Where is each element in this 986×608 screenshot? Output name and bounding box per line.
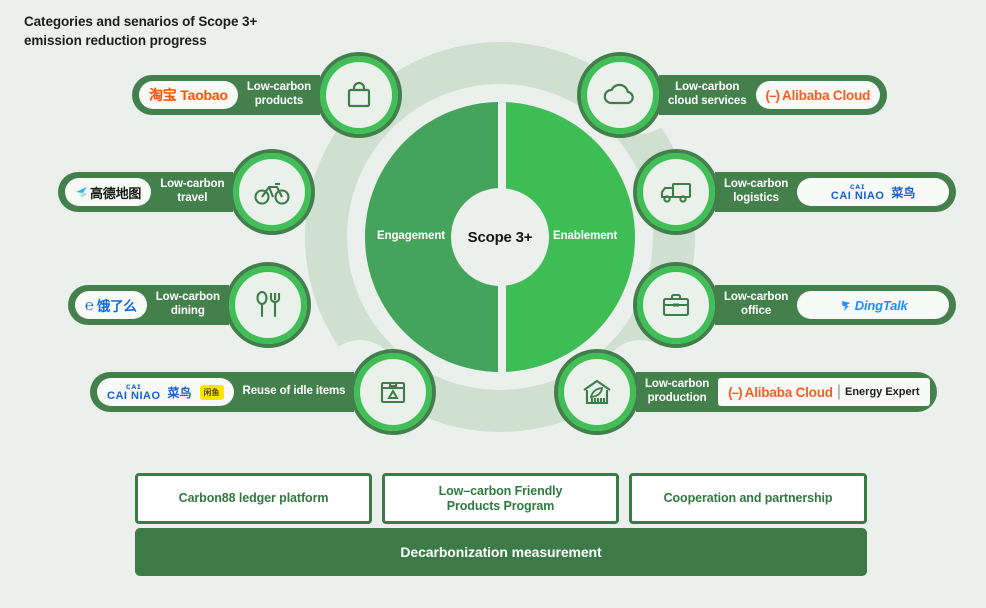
recycle-box-icon: [377, 376, 409, 408]
node-recycle-box[interactable]: [354, 353, 432, 431]
factory-leaf-icon: [580, 376, 614, 408]
node-inner-cloud: [587, 62, 653, 128]
brand-chip-alibaba-cloud[interactable]: (–) Alibaba Cloud: [756, 81, 881, 109]
rail-low-carbon-cloud: Low-carbon cloud services (–) Alibaba Cl…: [659, 75, 887, 115]
cutlery-icon: [253, 288, 283, 322]
dingtalk-mark-icon: [839, 297, 855, 313]
brand-chip-amap[interactable]: 高德地图: [65, 178, 151, 206]
node-factory[interactable]: [558, 353, 636, 431]
brand-chip-energy-expert[interactable]: (–) Alibaba Cloud | Energy Expert: [718, 378, 929, 406]
brand-chip-cainiao-xianyu[interactable]: ᴄᴀɪ CAI NIAO 菜鸟 闲鱼: [97, 378, 234, 406]
alibaba-cloud-wordmark: Alibaba Cloud: [782, 88, 870, 103]
node-inner-logistics: [643, 159, 709, 225]
row-low-carbon-dining[interactable]: ℮ 饿了么 Low-carbon dining: [68, 278, 307, 332]
amap-logo: 高德地图: [90, 183, 141, 202]
logo-divider: |: [837, 383, 841, 401]
brand-chip-dingtalk[interactable]: DingTalk: [797, 291, 949, 319]
rail-low-carbon-travel: 高德地图 Low-carbon travel: [58, 172, 233, 212]
category-label-cloud: Low-carbon cloud services: [659, 81, 756, 108]
eleme-mark-icon: ℮: [85, 297, 94, 314]
shopping-bag-icon: [343, 79, 375, 111]
alibaba-cloud-mark-icon-ee: (–): [728, 385, 742, 400]
foundation-cards: Carbon88 ledger platform Low–carbon Frie…: [135, 473, 867, 524]
decarbonization-measurement-bar[interactable]: Decarbonization measurement: [135, 528, 867, 576]
cainiao-pinyin: CAI NIAO: [107, 391, 161, 402]
category-label-reuse: Reuse of idle items: [234, 385, 355, 399]
node-bicycle[interactable]: [233, 153, 311, 231]
enablement-label: Enablement: [553, 230, 617, 242]
xianyu-badge: 闲鱼: [200, 385, 224, 400]
node-cloud[interactable]: [581, 56, 659, 134]
category-label-travel: Low-carbon travel: [151, 178, 233, 205]
card-cooperation-partnership[interactable]: Cooperation and partnership: [629, 473, 867, 524]
eleme-wordmark: 饿了么: [97, 295, 137, 315]
alibaba-cloud-wordmark-ee: Alibaba Cloud: [745, 385, 833, 400]
row-low-carbon-production[interactable]: Low-carbon production (–) Alibaba Cloud …: [558, 365, 937, 419]
rail-low-carbon-office: Low-carbon office DingTalk: [715, 285, 956, 325]
cainiao-pinyin-logistics: CAI NIAO: [831, 191, 885, 202]
alibaba-cloud-logo-ee: (–) Alibaba Cloud: [728, 385, 833, 400]
category-label-production: Low-carbon production: [636, 378, 718, 405]
cainiao-hanzi-logistics: 菜鸟: [891, 184, 915, 201]
rail-low-carbon-production: Low-carbon production (–) Alibaba Cloud …: [636, 372, 937, 412]
category-label-dining: Low-carbon dining: [147, 291, 229, 318]
rail-low-carbon-logistics: Low-carbon logistics ᴄᴀɪ CAI NIAO 菜鸟: [715, 172, 956, 212]
scope3-hub: Scope 3+: [451, 188, 549, 286]
row-low-carbon-logistics[interactable]: Low-carbon logistics ᴄᴀɪ CAI NIAO 菜鸟: [637, 165, 956, 219]
engagement-label: Engagement: [377, 230, 445, 242]
briefcase-icon: [660, 290, 692, 320]
brand-chip-eleme[interactable]: ℮ 饿了么: [75, 291, 147, 319]
node-briefcase[interactable]: [637, 266, 715, 344]
cainiao-logo-logistics: ᴄᴀɪ CAI NIAO 菜鸟: [831, 183, 916, 202]
alibaba-cloud-logo: (–) Alibaba Cloud: [766, 88, 871, 103]
node-truck[interactable]: [637, 153, 715, 231]
node-inner-office: [643, 272, 709, 338]
row-reuse-idle-items[interactable]: ᴄᴀɪ CAI NIAO 菜鸟 闲鱼 Reuse of idle items: [90, 365, 432, 419]
row-low-carbon-products[interactable]: 淘宝 Taobao Low-carbon products: [132, 68, 398, 122]
card-low-carbon-friendly-program[interactable]: Low–carbon Friendly Products Program: [382, 473, 619, 524]
cainiao-hanzi: 菜鸟: [168, 384, 192, 401]
alibaba-cloud-mark-icon: (–): [766, 88, 780, 103]
dingtalk-logo: DingTalk: [855, 298, 908, 313]
infographic-canvas: Categories and senarios of Scope 3+ emis…: [0, 0, 986, 608]
row-low-carbon-office[interactable]: Low-carbon office DingTalk: [637, 278, 956, 332]
node-inner-dining: [235, 272, 301, 338]
hub-label: Scope 3+: [468, 229, 533, 246]
node-inner-travel: [239, 159, 305, 225]
brand-chip-cainiao[interactable]: ᴄᴀɪ CAI NIAO 菜鸟: [797, 178, 949, 206]
node-inner-production: [564, 359, 630, 425]
node-cutlery[interactable]: [229, 266, 307, 344]
amap-mark-icon: [75, 185, 90, 200]
truck-icon: [658, 178, 694, 206]
node-shopping-bag[interactable]: [320, 56, 398, 134]
cainiao-latin-logistics: ᴄᴀɪ CAI NIAO: [831, 183, 885, 202]
cainiao-latin: ᴄᴀɪ CAI NIAO: [107, 383, 161, 402]
card-carbon88-ledger[interactable]: Carbon88 ledger platform: [135, 473, 372, 524]
category-label-logistics: Low-carbon logistics: [715, 178, 797, 205]
eleme-logo: ℮ 饿了么: [85, 295, 137, 315]
row-low-carbon-travel[interactable]: 高德地图 Low-carbon travel: [58, 165, 311, 219]
node-inner-products: [326, 62, 392, 128]
taobao-logo: 淘宝 Taobao: [149, 85, 228, 105]
brand-chip-taobao[interactable]: 淘宝 Taobao: [139, 81, 238, 109]
category-label-products: Low-carbon products: [238, 81, 320, 108]
node-inner-reuse: [360, 359, 426, 425]
row-low-carbon-cloud[interactable]: Low-carbon cloud services (–) Alibaba Cl…: [581, 68, 887, 122]
category-label-office: Low-carbon office: [715, 291, 797, 318]
rail-low-carbon-products: 淘宝 Taobao Low-carbon products: [132, 75, 320, 115]
energy-expert-label: Energy Expert: [845, 386, 920, 398]
cainiao-logo: ᴄᴀɪ CAI NIAO 菜鸟: [107, 383, 192, 402]
cloud-icon: [602, 81, 638, 109]
rail-reuse-idle-items: ᴄᴀɪ CAI NIAO 菜鸟 闲鱼 Reuse of idle items: [90, 372, 354, 412]
rail-low-carbon-dining: ℮ 饿了么 Low-carbon dining: [68, 285, 229, 325]
bicycle-icon: [254, 177, 290, 207]
